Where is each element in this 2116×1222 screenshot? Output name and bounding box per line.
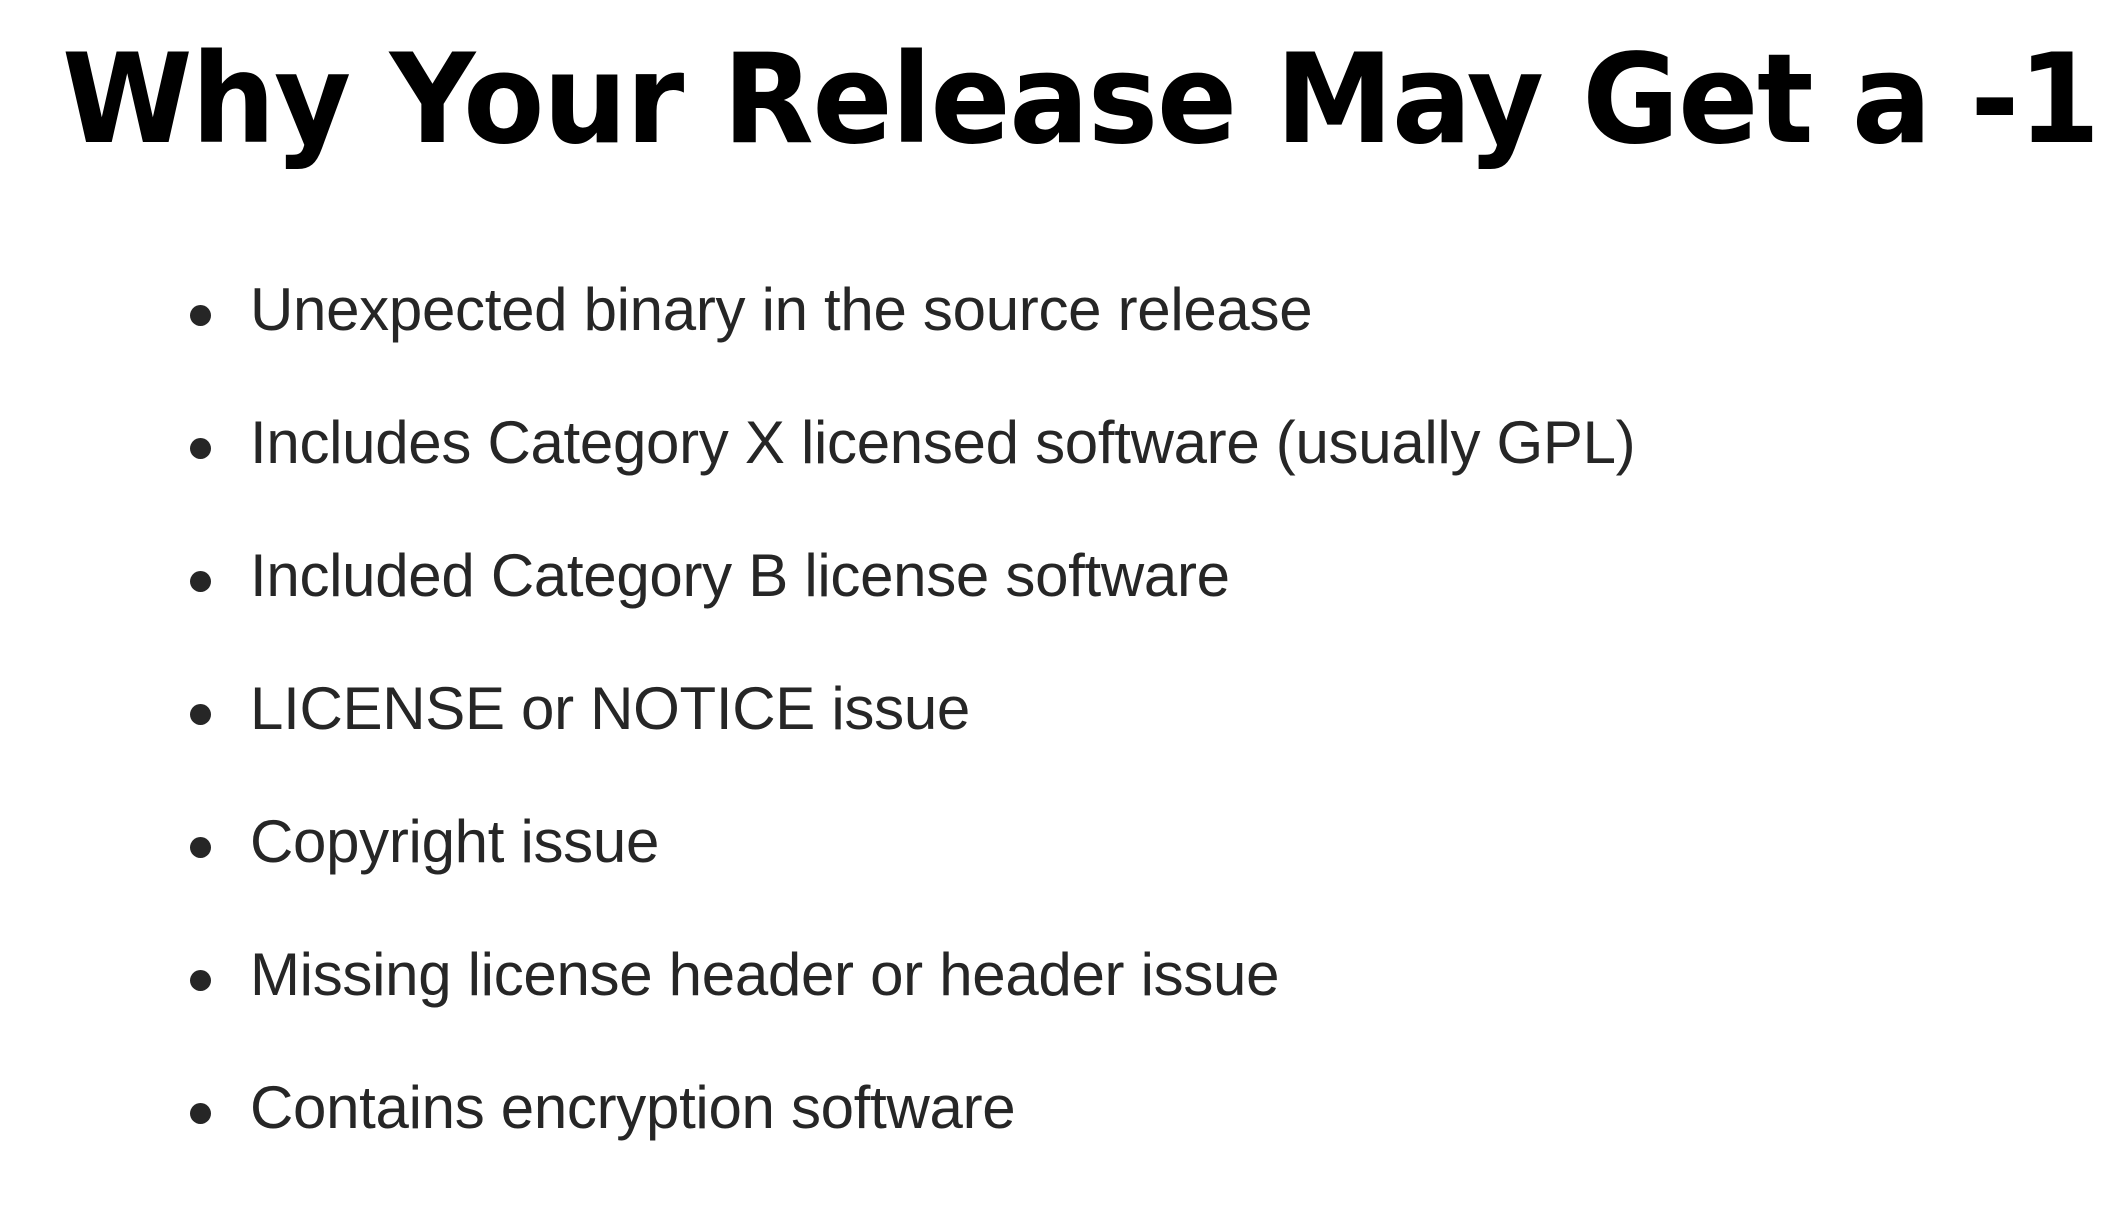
list-item-label: Copyright issue [250,808,659,876]
list-item-label: LICENSE or NOTICE issue [250,675,970,743]
bullet-list: Unexpected binary in the source release … [190,276,2070,1207]
list-item-label: Includes Category X licensed software (u… [250,409,1635,477]
presentation-slide: Why Your Release May Get a -1 Unexpected… [0,0,2116,1222]
list-item: Contains encryption software [190,1074,2070,1207]
list-item: Included Category B license software [190,542,2070,675]
list-item: LICENSE or NOTICE issue [190,675,2070,808]
bullet-point-icon [190,571,211,592]
list-item-label: Missing license header or header issue [250,941,1279,1009]
list-item-label: Unexpected binary in the source release [250,276,1312,344]
list-item-label: Contains encryption software [250,1074,1015,1142]
list-item: Copyright issue [190,808,2070,941]
list-item-label: Included Category B license software [250,542,1230,610]
slide-title: Why Your Release May Get a -1 [62,32,1962,168]
bullet-point-icon [190,837,211,858]
bullet-point-icon [190,970,211,991]
bullet-point-icon [190,305,211,326]
bullet-point-icon [190,704,211,725]
list-item: Unexpected binary in the source release [190,276,2070,409]
bullet-point-icon [190,1103,211,1124]
bullet-point-icon [190,438,211,459]
list-item: Missing license header or header issue [190,941,2070,1074]
list-item: Includes Category X licensed software (u… [190,409,2070,542]
